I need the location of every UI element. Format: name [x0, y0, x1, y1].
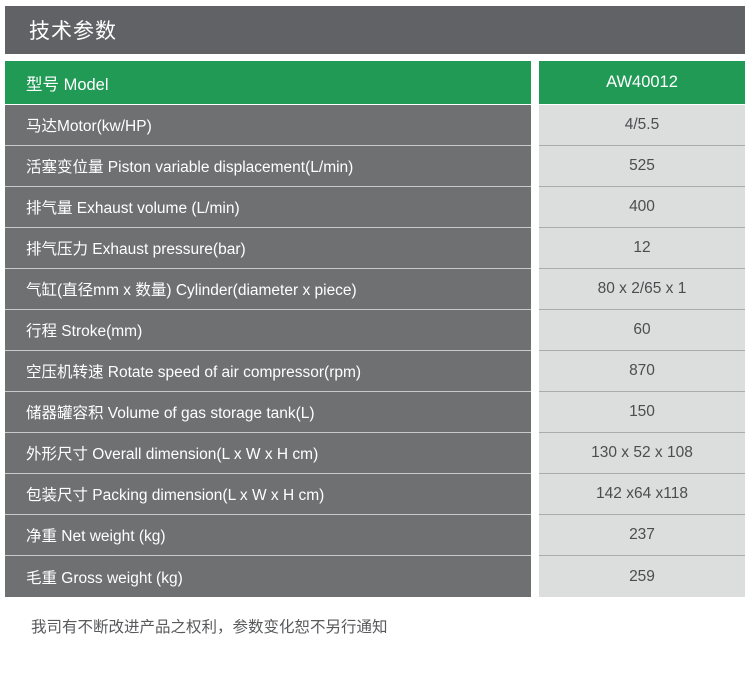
column-gutter: [531, 556, 539, 597]
table-row: 活塞变位量 Piston variable displacement(L/min…: [5, 146, 745, 187]
row-value: 870: [539, 351, 745, 392]
table-row: 排气量 Exhaust volume (L/min) 400: [5, 187, 745, 228]
row-value: 130 x 52 x 108: [539, 433, 745, 474]
column-gutter: [531, 474, 539, 515]
column-gutter: [531, 392, 539, 433]
column-gutter: [531, 146, 539, 187]
table-row: 排气压力 Exhaust pressure(bar) 12: [5, 228, 745, 269]
row-label: 净重 Net weight (kg): [5, 515, 531, 556]
page-title: 技术参数: [29, 15, 117, 45]
column-gutter: [531, 105, 539, 146]
table-row: 包装尺寸 Packing dimension(L x W x H cm) 142…: [5, 474, 745, 515]
row-label: 马达Motor(kw/HP): [5, 105, 531, 146]
table-row: 储器罐容积 Volume of gas storage tank(L) 150: [5, 392, 745, 433]
row-label: 外形尺寸 Overall dimension(L x W x H cm): [5, 433, 531, 474]
table-body: 型号 Model AW40012 马达Motor(kw/HP) 4/5.5 活塞…: [5, 61, 745, 597]
row-label: 活塞变位量 Piston variable displacement(L/min…: [5, 146, 531, 187]
row-label: 排气压力 Exhaust pressure(bar): [5, 228, 531, 269]
column-gutter: [531, 269, 539, 310]
column-gutter: [531, 433, 539, 474]
column-gutter: [531, 187, 539, 228]
table-row: 空压机转速 Rotate speed of air compressor(rpm…: [5, 351, 745, 392]
column-gutter: [531, 228, 539, 269]
row-label: 空压机转速 Rotate speed of air compressor(rpm…: [5, 351, 531, 392]
row-value: 237: [539, 515, 745, 556]
row-value: 80 x 2/65 x 1: [539, 269, 745, 310]
footer-disclaimer: 我司有不断改进产品之权利，参数变化恕不另行通知: [5, 615, 745, 637]
row-value: 400: [539, 187, 745, 228]
row-value: 60: [539, 310, 745, 351]
column-gutter: [531, 351, 539, 392]
table-row: 行程 Stroke(mm) 60: [5, 310, 745, 351]
table-row: 马达Motor(kw/HP) 4/5.5: [5, 105, 745, 146]
column-gutter: [531, 515, 539, 556]
row-value: 259: [539, 556, 745, 597]
table-row: 毛重 Gross weight (kg) 259: [5, 556, 745, 597]
header-label-model: 型号 Model: [5, 61, 531, 105]
title-bar: 技术参数: [5, 6, 745, 54]
table-row: 净重 Net weight (kg) 237: [5, 515, 745, 556]
row-label: 毛重 Gross weight (kg): [5, 556, 531, 597]
spec-sheet: 技术参数 型号 Model AW40012 马达Motor(kw/HP) 4/5…: [0, 0, 750, 674]
row-value: 150: [539, 392, 745, 433]
row-label: 包装尺寸 Packing dimension(L x W x H cm): [5, 474, 531, 515]
table-row: 外形尺寸 Overall dimension(L x W x H cm) 130…: [5, 433, 745, 474]
column-gutter: [531, 61, 539, 105]
row-label: 储器罐容积 Volume of gas storage tank(L): [5, 392, 531, 433]
row-label: 气缸(直径mm x 数量) Cylinder(diameter x piece): [5, 269, 531, 310]
column-gutter: [531, 310, 539, 351]
header-value-model: AW40012: [539, 61, 745, 105]
row-label: 行程 Stroke(mm): [5, 310, 531, 351]
specifications-table: 型号 Model AW40012 马达Motor(kw/HP) 4/5.5 活塞…: [5, 61, 745, 597]
row-value: 4/5.5: [539, 105, 745, 146]
row-label: 排气量 Exhaust volume (L/min): [5, 187, 531, 228]
table-row: 气缸(直径mm x 数量) Cylinder(diameter x piece)…: [5, 269, 745, 310]
table-header-row: 型号 Model AW40012: [5, 61, 745, 105]
row-value: 525: [539, 146, 745, 187]
row-value: 142 x64 x118: [539, 474, 745, 515]
row-value: 12: [539, 228, 745, 269]
